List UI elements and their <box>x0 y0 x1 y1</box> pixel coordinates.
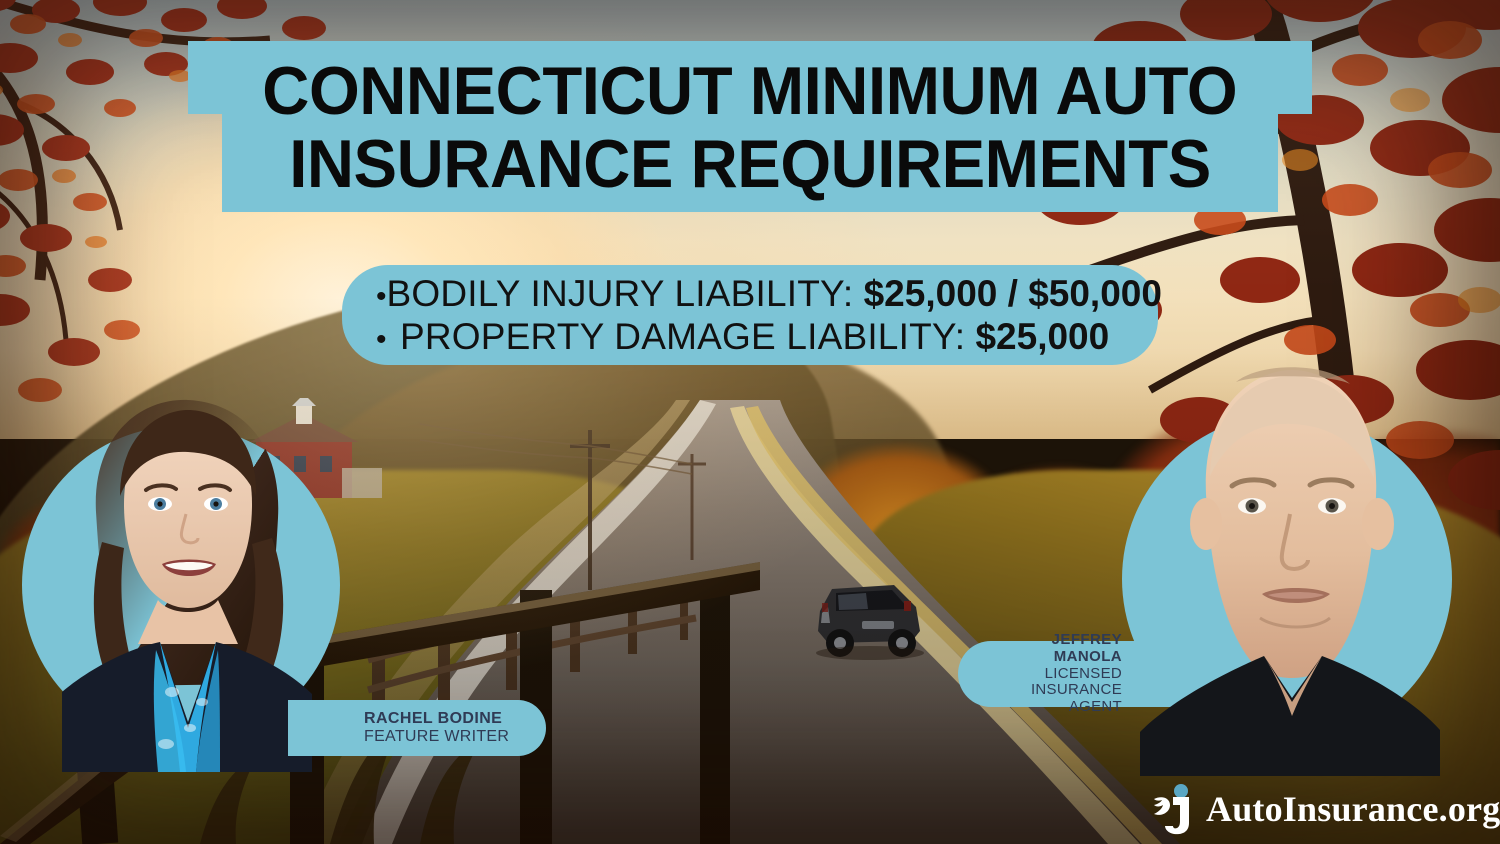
brand-logo[interactable]: AutoInsurance.org <box>1152 783 1500 835</box>
person-role-line-2: AGENT <box>980 699 1122 716</box>
coverage-value: $25,000 <box>975 315 1109 358</box>
autoinsurance-j-mark-icon <box>1152 783 1196 835</box>
person-role-line-1: LICENSED INSURANCE <box>980 666 1122 700</box>
bullet-icon: • <box>376 325 400 355</box>
person-name: JEFFREY MANOLA <box>980 632 1122 666</box>
bullet-icon: • <box>376 282 387 312</box>
coverage-label: BODILY INJURY LIABILITY: <box>387 272 854 315</box>
suv-vehicle <box>806 573 932 661</box>
list-item: • PROPERTY DAMAGE LIABILITY: $25,000 <box>376 315 1158 358</box>
title-line-2: INSURANCE REQUIREMENTS <box>289 131 1211 198</box>
person-caption: RACHEL BODINE FEATURE WRITER <box>288 700 546 756</box>
title-line-1: CONNECTICUT MINIMUM AUTO <box>263 58 1238 125</box>
brand-name: AutoInsurance.org <box>1206 791 1500 827</box>
requirements-list: • BODILY INJURY LIABILITY: $25,000 / $50… <box>342 265 1158 365</box>
list-item: • BODILY INJURY LIABILITY: $25,000 / $50… <box>376 272 1158 315</box>
page-title: CONNECTICUT MINIMUM AUTO INSURANCE REQUI… <box>188 41 1312 213</box>
infographic-canvas: CONNECTICUT MINIMUM AUTO INSURANCE REQUI… <box>0 0 1500 844</box>
avatar <box>62 392 312 772</box>
avatar <box>1140 356 1440 776</box>
coverage-value: $25,000 / $50,000 <box>864 272 1162 315</box>
person-role: FEATURE WRITER <box>364 728 520 746</box>
person-name: RACHEL BODINE <box>364 710 520 728</box>
coverage-label: PROPERTY DAMAGE LIABILITY: <box>400 315 965 358</box>
